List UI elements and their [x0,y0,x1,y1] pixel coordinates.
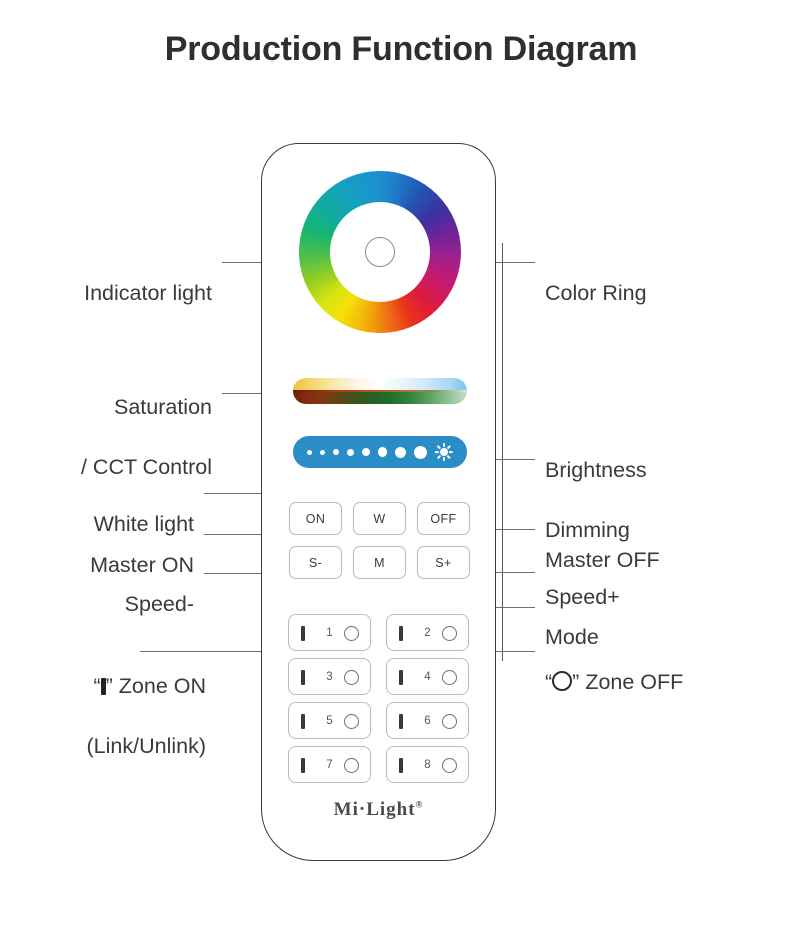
callout-zone-on-line: “” Zone ON [0,641,206,701]
brightness-dot-7 [395,447,406,458]
callout-zone-on-quote-close: ” [106,674,113,698]
brightness-dot-5 [362,448,370,456]
zone-button-3[interactable]: 3 [288,658,371,695]
callout-brightness-line1: Brightness [545,455,795,485]
page-title: Production Function Diagram [0,30,802,69]
remote-control-body: ON W OFF S- M S+ 1 2 3 [261,143,496,861]
callout-indicator-light: Indicator light [0,248,212,308]
button-master-off[interactable]: OFF [417,502,470,535]
brand-logo: Mi·Light® [262,799,495,821]
saturation-cct-bar[interactable] [293,378,467,404]
callout-zone-off-quote-open: “ [545,670,552,694]
zone-off-circle-icon[interactable] [344,758,359,773]
brand-registered-mark: ® [416,800,424,810]
zone-button-4[interactable]: 4 [386,658,469,695]
zone-off-circle-icon [552,671,572,691]
callout-color-ring: Color Ring [545,248,795,308]
brightness-dot-6 [378,447,388,457]
button-master-off-label: OFF [430,512,456,526]
zone-off-circle-icon[interactable] [442,626,457,641]
brightness-dot-1 [307,450,312,455]
diagram-page: Production Function Diagram Indicator li… [0,0,802,942]
zone-off-circle-icon[interactable] [344,714,359,729]
zone-button-5[interactable]: 5 [288,702,371,739]
zone-button-6[interactable]: 6 [386,702,469,739]
brightness-dot-2 [320,450,325,455]
saturation-cct-saturation-gradient [293,391,467,404]
button-mode[interactable]: M [353,546,406,579]
callout-zone-off-text: Zone OFF [579,670,683,694]
button-white-light-label: W [373,512,385,526]
brightness-dot-3 [333,449,339,455]
brightness-dimming-bar[interactable] [293,436,467,468]
button-mode-label: M [374,556,385,570]
button-speed-plus[interactable]: S+ [417,546,470,579]
zone-off-circle-icon[interactable] [344,626,359,641]
zone-button-2[interactable]: 2 [386,614,469,651]
callout-zone-on-quote-open: “ [93,674,100,698]
callout-indicator-light-text: Indicator light [84,281,212,305]
callout-speed-minus: Speed- [0,559,194,619]
brightness-dot-8 [414,446,427,459]
button-white-light[interactable]: W [353,502,406,535]
button-master-on[interactable]: ON [289,502,342,535]
color-ring[interactable] [299,171,461,333]
callout-saturation-line2: / CCT Control [0,452,212,482]
button-speed-minus[interactable]: S- [289,546,342,579]
callout-saturation-line1: Saturation [0,392,212,422]
callout-zone-on-sub: (Link/Unlink) [0,731,206,761]
zone-off-circle-icon[interactable] [442,758,457,773]
button-master-on-label: ON [306,512,326,526]
button-speed-minus-label: S- [309,556,322,570]
callout-zone-off: “” Zone OFF [545,637,795,697]
callout-color-ring-text: Color Ring [545,281,647,305]
zone-button-1[interactable]: 1 [288,614,371,651]
sun-icon [435,443,453,461]
zone-off-circle-icon[interactable] [442,714,457,729]
indicator-light [365,237,395,267]
zone-off-circle-icon[interactable] [442,670,457,685]
right-guide-line [502,243,503,661]
callout-zone-on: “” Zone ON (Link/Unlink) [0,611,206,791]
callout-zone-on-text: Zone ON [113,674,206,698]
saturation-cct-divider [293,390,467,392]
zone-off-circle-icon[interactable] [344,670,359,685]
zone-button-7[interactable]: 7 [288,746,371,783]
brand-name: Mi·Light [334,799,416,820]
brightness-dot-4 [347,449,354,456]
zone-button-8[interactable]: 8 [386,746,469,783]
button-speed-plus-label: S+ [435,556,451,570]
